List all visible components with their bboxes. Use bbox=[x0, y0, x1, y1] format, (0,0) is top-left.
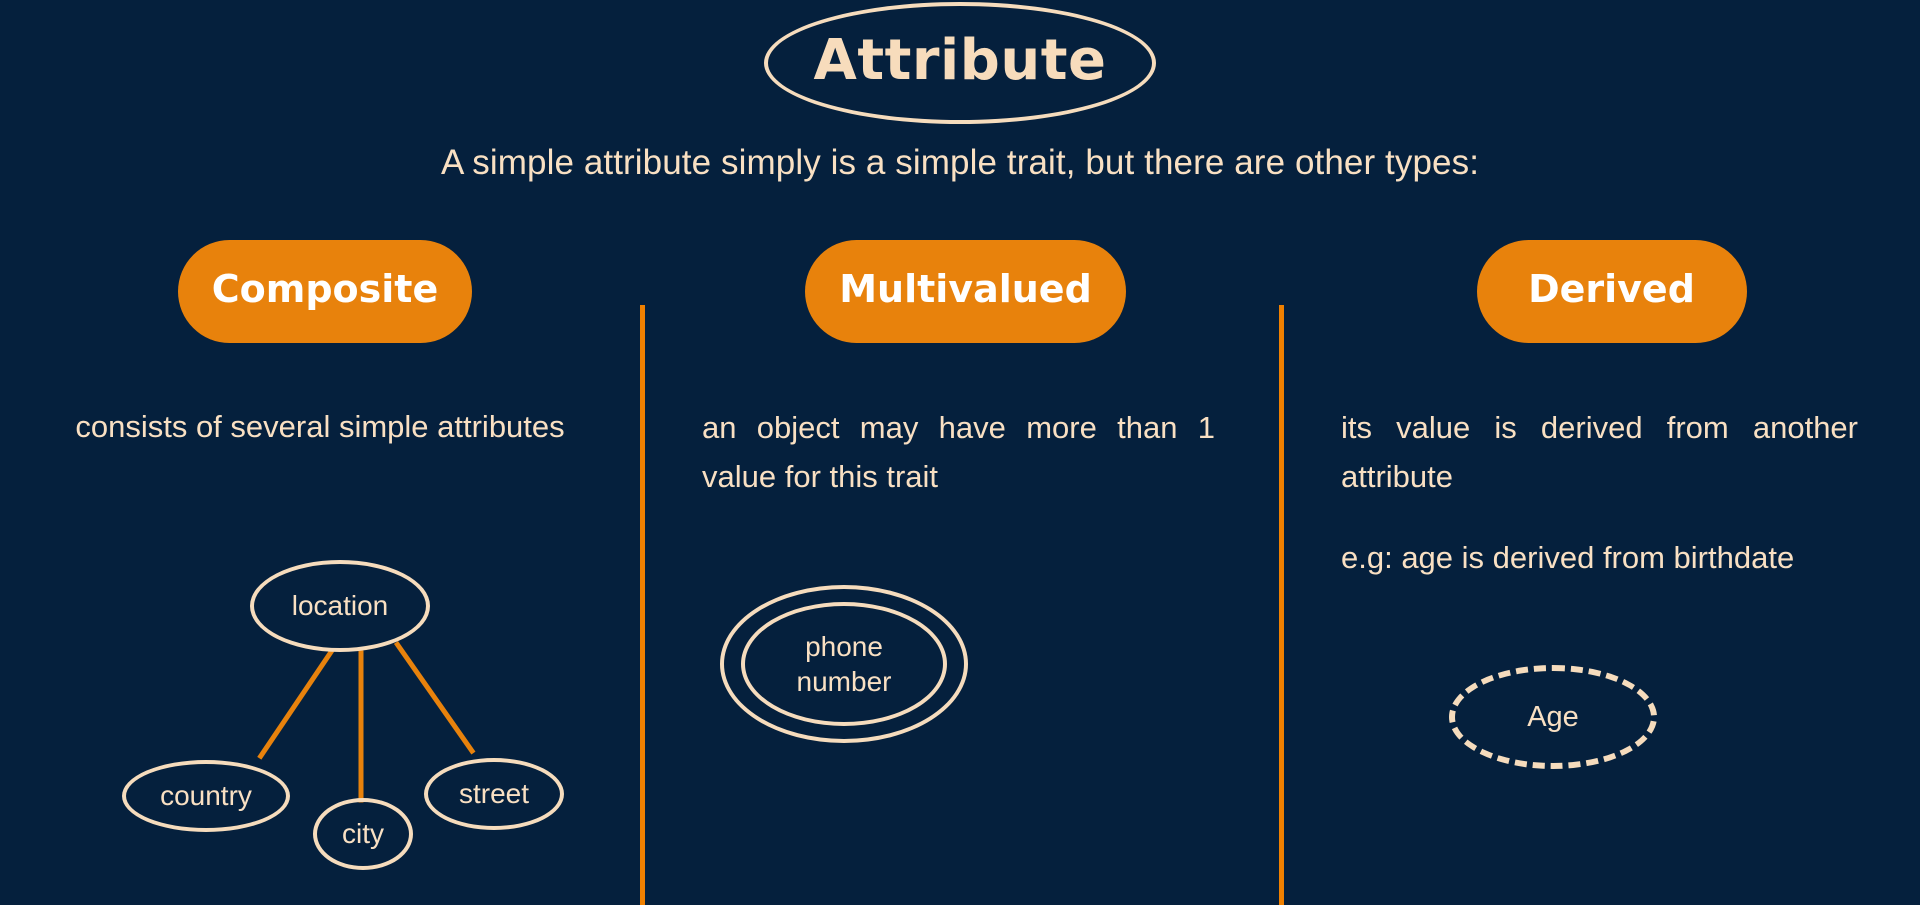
ellipse-phone-label-line1: phone bbox=[805, 629, 883, 664]
ellipse-location-label: location bbox=[292, 590, 389, 621]
multivalued-attribute-diagram: phone number bbox=[680, 585, 1100, 805]
link-location-country bbox=[257, 649, 334, 760]
ellipse-city-label: city bbox=[342, 818, 384, 849]
ellipse-country: country bbox=[122, 760, 290, 832]
derived-pill-row: Derived bbox=[1279, 240, 1920, 348]
column-composite: Composite consists of several simple att… bbox=[0, 240, 640, 905]
pill-derived-label: Derived bbox=[1528, 270, 1695, 313]
double-ellipse-outer: phone number bbox=[720, 585, 968, 743]
dashed-ellipse-age-label: Age bbox=[1527, 701, 1579, 734]
ellipse-location: location bbox=[250, 560, 430, 652]
composite-description: consists of several simple attributes bbox=[0, 402, 640, 451]
composite-description-block: consists of several simple attributes bbox=[0, 402, 640, 451]
column-derived: Derived its value is derived from anothe… bbox=[1279, 240, 1920, 905]
pill-composite-label: Composite bbox=[212, 270, 438, 313]
ellipse-phone-label-line2: number bbox=[797, 664, 892, 699]
derived-description-primary: its value is derived from another attrib… bbox=[1341, 403, 1858, 501]
ellipse-street: street bbox=[424, 758, 564, 830]
multivalued-description-block: an object may have more than 1 value for… bbox=[640, 403, 1279, 501]
derived-description-example: e.g: age is derived from birthdate bbox=[1341, 533, 1858, 582]
ellipse-country-label: country bbox=[160, 780, 252, 811]
pill-derived[interactable]: Derived bbox=[1477, 240, 1747, 343]
link-location-city bbox=[359, 651, 364, 803]
derived-description-block: its value is derived from another attrib… bbox=[1279, 403, 1920, 582]
multivalued-pill-row: Multivalued bbox=[640, 240, 1279, 348]
link-location-street bbox=[394, 641, 476, 754]
pill-multivalued[interactable]: Multivalued bbox=[805, 240, 1126, 343]
composite-pill-row: Composite bbox=[0, 240, 640, 348]
double-ellipse-inner: phone number bbox=[741, 602, 947, 726]
page-subtitle: A simple attribute simply is a simple tr… bbox=[0, 143, 1920, 183]
ellipse-city: city bbox=[313, 798, 413, 870]
dashed-ellipse-age: Age bbox=[1449, 665, 1657, 769]
page-title-container: Attribute bbox=[0, 2, 1920, 124]
pill-multivalued-label: Multivalued bbox=[839, 270, 1092, 313]
slide-canvas: Attribute A simple attribute simply is a… bbox=[0, 0, 1920, 905]
title-ellipse-shape: Attribute bbox=[764, 2, 1156, 124]
ellipse-street-label: street bbox=[459, 778, 529, 809]
column-multivalued: Multivalued an object may have more than… bbox=[640, 240, 1279, 905]
page-title: Attribute bbox=[814, 33, 1107, 93]
multivalued-description: an object may have more than 1 value for… bbox=[702, 403, 1215, 501]
attribute-type-columns: Composite consists of several simple att… bbox=[0, 240, 1920, 905]
composite-attribute-diagram: location country city street bbox=[120, 560, 620, 880]
derived-attribute-diagram: Age bbox=[1359, 665, 1779, 825]
pill-composite[interactable]: Composite bbox=[178, 240, 472, 343]
